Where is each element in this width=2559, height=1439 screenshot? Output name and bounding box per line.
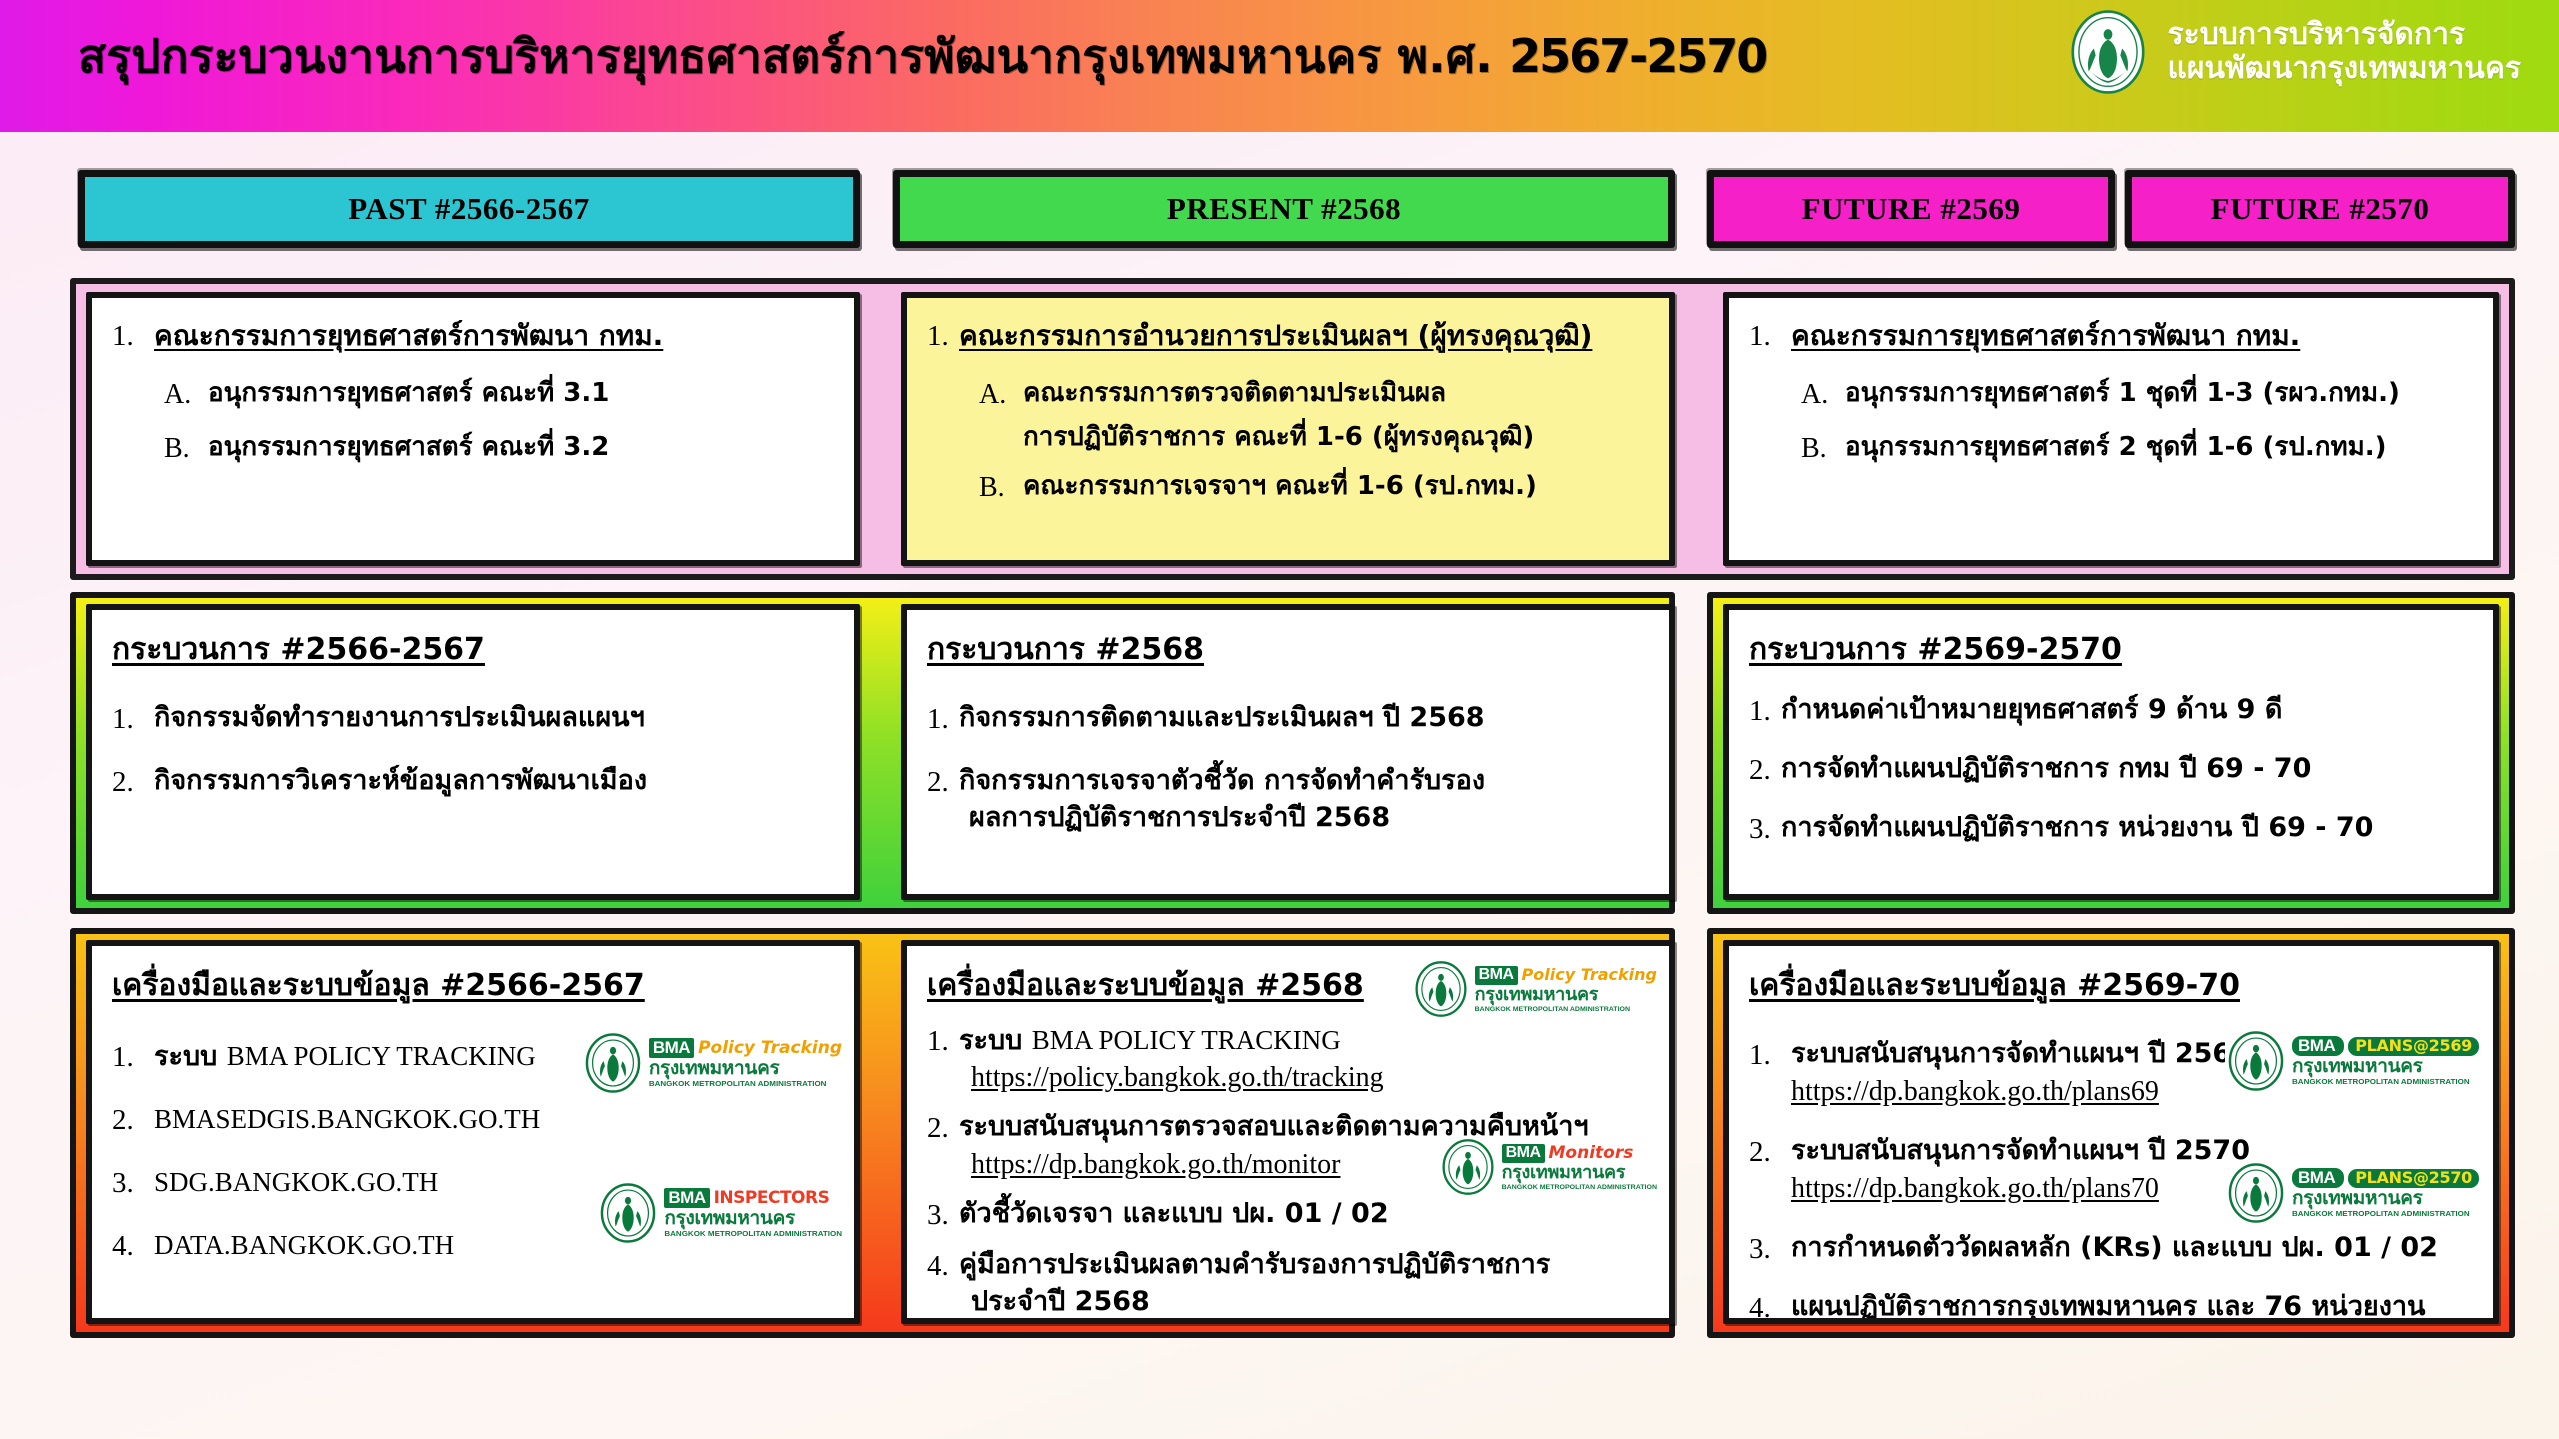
bangkok-metropolitan-seal-icon [2064, 8, 2152, 96]
logo-thai-name: กรุงเทพมหานคร [2292, 1189, 2479, 1208]
tool-label: แผนปฏิบัติราชการกรุงเทพมหานคร และ 76 หน่… [1791, 1290, 2473, 1324]
section-heading: เครื่องมือและระบบข้อมูล #2569-70 [1749, 962, 2240, 1009]
list-marker: 1. [1749, 693, 1781, 730]
process-label: การจัดทำแผนปฏิบัติราชการ กทม ปี 69 - 70 [1781, 752, 2473, 787]
tab-future-2569[interactable]: FUTURE #2569 [1707, 170, 2115, 248]
tab-future-2570[interactable]: FUTURE #2570 [2125, 170, 2515, 248]
list-marker: 2. [927, 1110, 959, 1147]
list-item: 3. ตัวชี้วัดเจรจา และแบบ ปผ. 01 / 02 [927, 1197, 1649, 1234]
list-item: 1. คณะกรรมการยุทธศาสตร์การพัฒนา กทม. [112, 318, 834, 355]
logo-eng-name: BANGKOK METROPOLITAN ADMINISTRATION [2292, 1210, 2479, 1217]
page-title: สรุปกระบวนงานการบริหารยุทธศาสตร์การพัฒนา… [78, 20, 1766, 93]
logo-tagline: Policy Tracking [1522, 967, 1657, 983]
section-heading: เครื่องมือและระบบข้อมูล #2568 [927, 962, 1364, 1009]
process-label: กิจกรรมการวิเคราะห์ข้อมูลการพัฒนาเมือง [154, 764, 834, 799]
subcommittee-label: คณะกรรมการเจรจาฯ คณะที่ 1-6 (รป.กทม.) [1023, 470, 1649, 503]
list-item-continuation: การปฏิบัติราชการ คณะที่ 1-6 (ผู้ทรงคุณวุ… [1023, 421, 1649, 454]
list-item: 2. การจัดทำแผนปฏิบัติราชการ กทม ปี 69 - … [1749, 752, 2473, 789]
subcommittee-label: อนุกรรมการยุทธศาสตร์ 2 ชุดที่ 1-6 (รป.กท… [1845, 431, 2473, 464]
list-item: A. อนุกรรมการยุทธศาสตร์ คณะที่ 3.1 [164, 377, 834, 413]
card-process-future: กระบวนการ #2569-2570 1. กำหนดค่าเป้าหมาย… [1723, 604, 2499, 900]
subcommittee-label-line2: การปฏิบัติราชการ คณะที่ 1-6 (ผู้ทรงคุณวุ… [1023, 421, 1649, 454]
logo-eng-name: BANGKOK METROPOLITAN ADMINISTRATION [649, 1080, 842, 1087]
list-item: 4. คู่มือการประเมินผลตามคำรับรองการปฏิบั… [927, 1248, 1649, 1285]
tool-url[interactable]: https://dp.bangkok.go.th/plans70 [1791, 1171, 2159, 1207]
bma-policy-tracking-logo: BMA Policy Tracking กรุงเทพมหานคร BANGKO… [582, 1032, 842, 1094]
card-tools-past: เครื่องมือและระบบข้อมูล #2566-2567 1. ระ… [86, 940, 860, 1324]
bma-wordmark: BMA [1475, 966, 1518, 985]
bma-plans-2569-logo: BMA PLANS@2569 กรุงเทพมหานคร BANGKOK MET… [2225, 1030, 2479, 1092]
tool-label-thai: ระบบ [154, 1041, 227, 1072]
bma-wordmark: BMA [1502, 1144, 1545, 1163]
list-item: A. อนุกรรมการยุทธศาสตร์ 1 ชุดที่ 1-3 (รผ… [1801, 377, 2473, 413]
card-committees-past: 1. คณะกรรมการยุทธศาสตร์การพัฒนา กทม. A. … [86, 292, 860, 566]
tool-label-thai: ระบบ [959, 1025, 1032, 1056]
tab-present-label: PRESENT #2568 [1167, 191, 1401, 227]
bma-plans-2570-logo: BMA PLANS@2570 กรุงเทพมหานคร BANGKOK MET… [2225, 1162, 2479, 1224]
tool-label: การกำหนดตัววัดผลหลัก (KRs) และแบบ ปผ. 01… [1791, 1231, 2473, 1266]
subcommittee-label: คณะกรรมการตรวจติดตามประเมินผล [1023, 377, 1649, 410]
list-item-continuation: ประจำปี 2568 [971, 1285, 1649, 1320]
logo-thai-name: กรุงเทพมหานคร [649, 1059, 842, 1078]
list-marker: 3. [1749, 1231, 1791, 1268]
subcommittee-label: อนุกรรมการยุทธศาสตร์ 1 ชุดที่ 1-3 (รผว.ก… [1845, 377, 2473, 410]
logo-tagline: PLANS@2569 [2348, 1037, 2479, 1056]
process-label: การจัดทำแผนปฏิบัติราชการ หน่วยงาน ปี 69 … [1781, 811, 2473, 846]
card-committees-future: 1. คณะกรรมการยุทธศาสตร์การพัฒนา กทม. A. … [1723, 292, 2499, 566]
section-heading: กระบวนการ #2566-2567 [112, 626, 485, 673]
logo-tagline: Monitors [1549, 1145, 1634, 1162]
committee-title: คณะกรรมการยุทธศาสตร์การพัฒนา กทม. [1791, 318, 2473, 354]
tab-present[interactable]: PRESENT #2568 [893, 170, 1675, 248]
list-marker: 3. [1749, 811, 1781, 848]
tool-label-latin: BMA POLICY TRACKING [1032, 1025, 1341, 1055]
logo-eng-name: BANGKOK METROPOLITAN ADMINISTRATION [2292, 1078, 2479, 1085]
list-marker: 1. [927, 701, 959, 738]
list-marker: 1. [112, 318, 154, 355]
list-item: 1. ระบบ BMA POLICY TRACKING [927, 1023, 1649, 1060]
list-item-continuation: ผลการปฏิบัติราชการประจำปี 2568 [969, 801, 1649, 836]
bma-wordmark: BMA [664, 1188, 709, 1208]
subcommittee-label: อนุกรรมการยุทธศาสตร์ คณะที่ 3.2 [208, 431, 834, 464]
logo-thai-name: กรุงเทพมหานคร [1475, 986, 1657, 1004]
list-item: 1. กิจกรรมจัดทำรายงานการประเมินผลแผนฯ [112, 701, 834, 738]
bma-wordmark: BMA [2292, 1168, 2344, 1188]
logo-eng-name: BANGKOK METROPOLITAN ADMINISTRATION [664, 1230, 842, 1237]
list-item: B. อนุกรรมการยุทธศาสตร์ 2 ชุดที่ 1-6 (รป… [1801, 431, 2473, 467]
list-item: 2. กิจกรรมการวิเคราะห์ข้อมูลการพัฒนาเมือ… [112, 764, 834, 801]
list-marker: B. [1801, 431, 1845, 467]
process-label: กิจกรรมการเจรจาตัวชี้วัด การจัดทำคำรับรอ… [959, 764, 1649, 799]
list-item: 2. BMASEDGIS.BANGKOK.GO.TH [112, 1102, 834, 1139]
list-item: A. คณะกรรมการตรวจติดตามประเมินผล [979, 377, 1649, 413]
list-marker: B. [164, 431, 208, 467]
bma-inspectors-logo: BMA INSPECTORS กรุงเทพมหานคร BANGKOK MET… [597, 1182, 842, 1244]
list-marker: 4. [112, 1228, 154, 1265]
tool-label: ระบบ BMA POLICY TRACKING [959, 1023, 1649, 1059]
logo-thai-name: กรุงเทพมหานคร [1502, 1164, 1657, 1182]
list-marker: 3. [112, 1165, 154, 1202]
brand-line-2: แผนพัฒนากรุงเทพมหานคร [2168, 52, 2521, 86]
bma-seal-icon [597, 1182, 659, 1244]
logo-tagline: INSPECTORS [714, 1190, 830, 1207]
timeline-tabs: PAST #2566-2567 PRESENT #2568 FUTURE #25… [0, 162, 2559, 262]
section-heading: เครื่องมือและระบบข้อมูล #2566-2567 [112, 962, 645, 1009]
list-item: 1. กิจกรรมการติดตามและประเมินผลฯ ปี 2568 [927, 701, 1649, 738]
list-marker: 2. [927, 764, 959, 801]
subcommittee-label: อนุกรรมการยุทธศาสตร์ คณะที่ 3.1 [208, 377, 834, 410]
list-marker: 2. [112, 764, 154, 801]
list-marker: 1. [112, 701, 154, 738]
list-marker: 2. [112, 1102, 154, 1139]
list-marker: 3. [927, 1197, 959, 1234]
committee-title: คณะกรรมการยุทธศาสตร์การพัฒนา กทม. [154, 318, 834, 354]
tool-url[interactable]: https://policy.bangkok.go.th/tracking [971, 1060, 1384, 1096]
list-item: 1. คณะกรรมการยุทธศาสตร์การพัฒนา กทม. [1749, 318, 2473, 355]
list-marker: 2. [1749, 752, 1781, 789]
logo-eng-name: BANGKOK METROPOLITAN ADMINISTRATION [1502, 1184, 1657, 1190]
list-item: 4. แผนปฏิบัติราชการกรุงเทพมหานคร และ 76 … [1749, 1290, 2473, 1324]
page-title-main: สรุปกระบวนงานการบริหารยุทธศาสตร์การพัฒนา… [78, 29, 1509, 83]
process-label: กำหนดค่าเป้าหมายยุทธศาสตร์ 9 ด้าน 9 ดี [1781, 693, 2473, 728]
brand-block: ระบบการบริหารจัดการ แผนพัฒนากรุงเทพมหานค… [2064, 8, 2521, 96]
tab-past-label: PAST #2566-2567 [348, 191, 589, 227]
bma-seal-icon [1439, 1138, 1497, 1196]
tab-future-2570-label: FUTURE #2570 [2211, 191, 2430, 227]
list-marker: A. [979, 377, 1023, 413]
card-tools-future: เครื่องมือและระบบข้อมูล #2569-70 1. ระบบ… [1723, 940, 2499, 1324]
list-item: 3. การกำหนดตัววัดผลหลัก (KRs) และแบบ ปผ.… [1749, 1231, 2473, 1268]
list-marker: 4. [927, 1248, 959, 1285]
tool-label-latin: BMA POLICY TRACKING [227, 1041, 536, 1071]
list-marker: 1. [927, 1023, 959, 1060]
list-item: 2. กิจกรรมการเจรจาตัวชี้วัด การจัดทำคำรั… [927, 764, 1649, 801]
list-item: 1. กำหนดค่าเป้าหมายยุทธศาสตร์ 9 ด้าน 9 ด… [1749, 693, 2473, 730]
tool-label: ตัวชี้วัดเจรจา และแบบ ปผ. 01 / 02 [959, 1197, 1649, 1232]
process-label-line2: ผลการปฏิบัติราชการประจำปี 2568 [969, 801, 1649, 836]
tab-past[interactable]: PAST #2566-2567 [78, 170, 860, 248]
tab-future-2569-label: FUTURE #2569 [1802, 191, 2021, 227]
list-marker: 1. [112, 1039, 154, 1076]
logo-thai-name: กรุงเทพมหานคร [664, 1209, 842, 1228]
list-marker: 1. [927, 318, 959, 355]
list-item: 1. คณะกรรมการอำนวยการประเมินผลฯ (ผู้ทรงค… [927, 318, 1649, 355]
list-item: 3. การจัดทำแผนปฏิบัติราชการ หน่วยงาน ปี … [1749, 811, 2473, 848]
tool-label-line2: ประจำปี 2568 [971, 1285, 1649, 1320]
list-marker: B. [979, 470, 1023, 506]
list-marker: A. [164, 377, 208, 413]
logo-tagline: PLANS@2570 [2348, 1169, 2479, 1188]
bma-monitors-logo: BMA Monitors กรุงเทพมหานคร BANGKOK METRO… [1439, 1138, 1657, 1196]
section-heading: กระบวนการ #2568 [927, 626, 1204, 673]
list-marker: 4. [1749, 1290, 1791, 1324]
card-committees-present: 1. คณะกรรมการอำนวยการประเมินผลฯ (ผู้ทรงค… [901, 292, 1675, 566]
bma-seal-icon [582, 1032, 644, 1094]
card-process-present: กระบวนการ #2568 1. กิจกรรมการติดตามและปร… [901, 604, 1675, 900]
bma-seal-icon [2225, 1162, 2287, 1224]
page-header: สรุปกระบวนงานการบริหารยุทธศาสตร์การพัฒนา… [0, 0, 2559, 132]
bma-wordmark: BMA [2292, 1036, 2344, 1056]
tool-url[interactable]: https://dp.bangkok.go.th/monitor [971, 1147, 1340, 1183]
bma-seal-icon [2225, 1030, 2287, 1092]
logo-eng-name: BANGKOK METROPOLITAN ADMINISTRATION [1475, 1006, 1657, 1012]
committee-title: คณะกรรมการอำนวยการประเมินผลฯ (ผู้ทรงคุณว… [959, 318, 1649, 354]
list-item: B. คณะกรรมการเจรจาฯ คณะที่ 1-6 (รป.กทม.) [979, 470, 1649, 506]
list-marker: A. [1801, 377, 1845, 413]
list-item-url[interactable]: https://policy.bangkok.go.th/tracking [971, 1060, 1649, 1096]
brand-line-1: ระบบการบริหารจัดการ [2168, 18, 2521, 52]
bma-policy-tracking-logo: BMA Policy Tracking กรุงเทพมหานคร BANGKO… [1412, 960, 1657, 1018]
brand-text: ระบบการบริหารจัดการ แผนพัฒนากรุงเทพมหานค… [2168, 18, 2521, 86]
bma-wordmark: BMA [649, 1038, 694, 1058]
card-tools-present: เครื่องมือและระบบข้อมูล #2568 1. ระบบ BM… [901, 940, 1675, 1324]
process-label: กิจกรรมการติดตามและประเมินผลฯ ปี 2568 [959, 701, 1649, 736]
page-title-years: 2567-2570 [1509, 29, 1766, 83]
list-marker: 1. [1749, 1037, 1791, 1074]
card-process-past: กระบวนการ #2566-2567 1. กิจกรรมจัดทำรายง… [86, 604, 860, 900]
tool-label: BMASEDGIS.BANGKOK.GO.TH [154, 1102, 834, 1137]
bma-seal-icon [1412, 960, 1470, 1018]
logo-tagline: Policy Tracking [698, 1040, 842, 1057]
list-item: B. อนุกรรมการยุทธศาสตร์ คณะที่ 3.2 [164, 431, 834, 467]
section-heading: กระบวนการ #2569-2570 [1749, 626, 2122, 673]
list-marker: 1. [1749, 318, 1791, 355]
tool-label: คู่มือการประเมินผลตามคำรับรองการปฏิบัติร… [959, 1248, 1649, 1283]
tool-url[interactable]: https://dp.bangkok.go.th/plans69 [1791, 1074, 2159, 1110]
process-label: กิจกรรมจัดทำรายงานการประเมินผลแผนฯ [154, 701, 834, 736]
logo-thai-name: กรุงเทพมหานคร [2292, 1057, 2479, 1076]
list-marker: 2. [1749, 1134, 1791, 1171]
